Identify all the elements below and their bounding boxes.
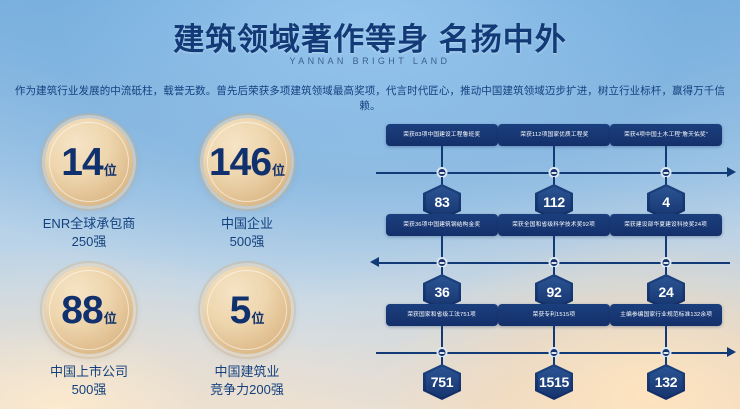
stat-label-line1: ENR全球承包商	[10, 215, 168, 233]
stat-label-line1: 中国建筑业	[168, 363, 326, 381]
stat-unit: 位	[104, 160, 117, 179]
arrow-right-icon	[727, 347, 736, 357]
timeline-node[interactable]: 荣获国家和省级工法751项 751	[386, 304, 498, 326]
award-count-value: 4	[662, 194, 670, 210]
stat-label: 中国上市公司 500强	[10, 363, 168, 398]
brand-subtitle: YANNAN BRIGHT LAND	[0, 56, 740, 66]
stat-label: 中国企业 500强	[168, 215, 326, 250]
timeline-row: 荣获83项中国建设工程鲁班奖 83 荣获112项国家优质工程奖 112	[372, 124, 734, 214]
award-label-text: 荣获83项中国建设工程鲁班奖	[404, 132, 481, 139]
stat-coin: 88 位	[45, 266, 133, 354]
stat-label-line2: 500强	[10, 381, 168, 399]
stat-number: 146	[209, 143, 271, 182]
timeline-node[interactable]: 荣获全国和省级科学技术奖92项 92	[498, 214, 610, 236]
award-label-text: 荣获4项中国土木工程“詹天佑奖”	[624, 132, 708, 139]
timeline-row: 荣获国家和省级工法751项 751 荣获专利1515项 1515	[372, 304, 734, 394]
award-label-box: 荣获112项国家优质工程奖	[498, 124, 610, 146]
award-label-text: 荣获112项国家优质工程奖	[520, 132, 588, 139]
timeline-node[interactable]: 荣获83项中国建设工程鲁班奖 83	[386, 124, 498, 146]
stat-card: 5 位 中国建筑业 竞争力200强	[168, 266, 326, 398]
award-label-box: 荣获国家和省级工法751项	[386, 304, 498, 326]
award-label-text: 荣获国家和省级工法751项	[408, 312, 477, 319]
award-count-value: 36	[435, 284, 450, 300]
award-count-badge: 132	[647, 364, 685, 400]
award-label-box: 荣获36项中国建筑钢结构金奖	[386, 214, 498, 236]
award-count-badge: 751	[423, 364, 461, 400]
award-count-value: 132	[655, 374, 677, 390]
award-count-value: 83	[435, 194, 450, 210]
award-label-box: 荣获4项中国土木工程“詹天佑奖”	[610, 124, 722, 146]
award-count-value: 751	[431, 374, 453, 390]
award-label-text: 主编参编国家行业规范标准132余项	[620, 312, 712, 319]
award-label-box: 荣获全国和省级科学技术奖92项	[498, 214, 610, 236]
stat-card: 14 位 ENR全球承包商 250强	[10, 118, 168, 250]
timeline-node[interactable]: 主编参编国家行业规范标准132余项 132	[610, 304, 722, 326]
timeline-node[interactable]: 荣获建设部华夏建设科技奖24项 24	[610, 214, 722, 236]
timeline-node[interactable]: 荣获专利1515项 1515	[498, 304, 610, 326]
timeline-row: 荣获36项中国建筑钢结构金奖 36 荣获全国和省级科学技术奖92项 92	[372, 214, 734, 304]
stat-number: 88	[61, 291, 102, 330]
awards-timelines: 荣获83项中国建设工程鲁班奖 83 荣获112项国家优质工程奖 112	[372, 124, 734, 400]
stat-label: ENR全球承包商 250强	[10, 215, 168, 250]
award-label-box: 荣获83项中国建设工程鲁班奖	[386, 124, 498, 146]
award-count-value: 92	[547, 284, 562, 300]
award-count-value: 24	[659, 284, 674, 300]
stat-label-line1: 中国企业	[168, 215, 326, 233]
stat-card: 146 位 中国企业 500强	[168, 118, 326, 250]
stat-coin: 14 位	[45, 118, 133, 206]
award-label-box: 荣获建设部华夏建设科技奖24项	[610, 214, 722, 236]
arrow-right-icon	[727, 167, 736, 177]
award-label-text: 荣获36项中国建筑钢结构金奖	[404, 222, 481, 229]
intro-paragraph: 作为建筑行业发展的中流砥柱，载誉无数。曾先后荣获多项建筑领域最高奖项，代言时代匠…	[14, 84, 726, 114]
stat-number: 14	[61, 143, 102, 182]
award-count-value: 112	[543, 194, 565, 210]
promo-banner: 建筑领域著作等身 名扬中外 YANNAN BRIGHT LAND 作为建筑行业发…	[0, 0, 740, 409]
page-title: 建筑领域著作等身 名扬中外	[0, 14, 740, 59]
timeline-node[interactable]: 荣获36项中国建筑钢结构金奖 36	[386, 214, 498, 236]
award-label-box: 主编参编国家行业规范标准132余项	[610, 304, 722, 326]
award-count-value: 1515	[539, 374, 569, 390]
stat-label-line1: 中国上市公司	[10, 363, 168, 381]
award-label-box: 荣获专利1515项	[498, 304, 610, 326]
timeline-node[interactable]: 荣获4项中国土木工程“詹天佑奖” 4	[610, 124, 722, 146]
stat-number: 5	[230, 291, 251, 330]
arrow-left-icon	[370, 257, 379, 267]
stat-coin: 5 位	[203, 266, 291, 354]
stat-label: 中国建筑业 竞争力200强	[168, 363, 326, 398]
stats-group: 14 位 ENR全球承包商 250强 146 位 中国企业 500强	[8, 118, 348, 403]
stat-unit: 位	[251, 308, 264, 327]
award-count-badge: 1515	[535, 364, 573, 400]
award-label-text: 荣获专利1515项	[533, 312, 576, 319]
stat-label-line2: 500强	[168, 233, 326, 251]
stat-label-line2: 竞争力200强	[168, 381, 326, 399]
stat-label-line2: 250强	[10, 233, 168, 251]
timeline-node[interactable]: 荣获112项国家优质工程奖 112	[498, 124, 610, 146]
stat-card: 88 位 中国上市公司 500强	[10, 266, 168, 398]
award-label-text: 荣获全国和省级科学技术奖92项	[513, 222, 596, 229]
stat-unit: 位	[272, 160, 285, 179]
stat-coin: 146 位	[203, 118, 291, 206]
stat-unit: 位	[104, 308, 117, 327]
award-label-text: 荣获建设部华夏建设科技奖24项	[625, 222, 708, 229]
